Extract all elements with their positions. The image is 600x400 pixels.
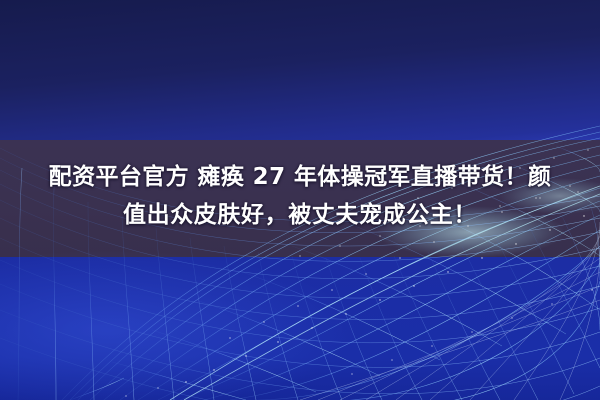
- background-band-top: [0, 0, 600, 142]
- banner-graphic: 配资平台官方 瘫痪 27 年体操冠军直播带货！颜 值出众皮肤好，被丈夫宠成公主！: [0, 0, 600, 400]
- background-band-bottom: [0, 257, 600, 400]
- headline-line-1: 配资平台官方 瘫痪 27 年体操冠军直播带货！颜: [0, 158, 600, 196]
- headline-line-2: 值出众皮肤好，被丈夫宠成公主！: [0, 196, 600, 234]
- headline-text: 配资平台官方 瘫痪 27 年体操冠军直播带货！颜 值出众皮肤好，被丈夫宠成公主！: [0, 158, 600, 234]
